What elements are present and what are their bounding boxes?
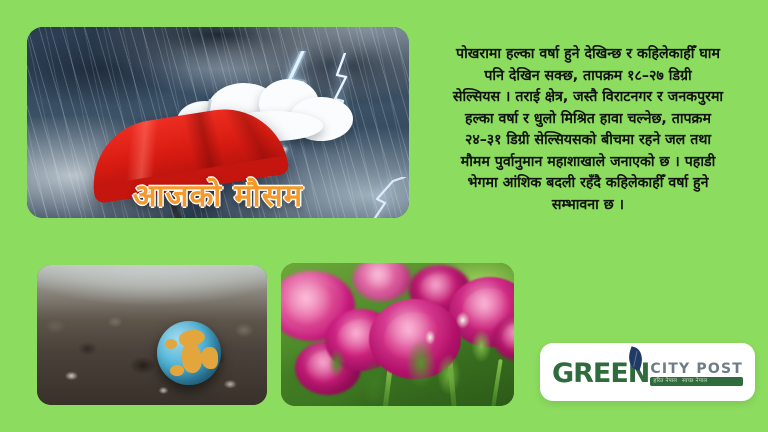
forecast-line: भेगमा आंशिक बदली रहँदै कहिलेकाहीँ वर्षा … (419, 173, 757, 195)
forecast-line: सेल्सियस । तराई क्षेत्र, जस्तै विराटनगर … (419, 87, 757, 109)
forecast-line: हल्का वर्षा र धुलो मिश्रित हावा चल्नेछ, … (419, 109, 757, 131)
forecast-line: पोखरामा हल्का वर्षा हुने देखिन्छ र कहिले… (419, 44, 757, 66)
logo-right-stack: CITY POST हरित नेपाल स्वच्छ नेपाल (650, 362, 743, 387)
forecast-line: मौमम पुर्वानुमान महाशाखाले जनाएको छ । पह… (419, 152, 757, 174)
poster-canvas: आजको मौसम पोखरामा हल्का वर्षा हुने देखिन… (0, 0, 768, 432)
forecast-line: पनि देखिन सक्छ, तापक्रम १८–२७ डिग्री (419, 66, 757, 88)
forecast-line: २४–३१ डिग्री सेल्सियसको बीचमा रहने जल तथ… (419, 130, 757, 152)
logo-card[interactable]: GREEN CITY POST हरित नेपाल स्वच्छ नेपाल (540, 343, 755, 401)
forecast-text-block: पोखरामा हल्का वर्षा हुने देखिन्छ र कहिले… (419, 44, 757, 216)
logo-tagline-bar: हरित नेपाल स्वच्छ नेपाल (650, 377, 743, 386)
photo-globe-on-landfill (37, 265, 267, 405)
forecast-line: सम्भावना छ । (419, 195, 757, 217)
green-city-post-logo: GREEN CITY POST हरित नेपाल स्वच्छ नेपाल (552, 357, 743, 387)
logo-tagline-right: स्वच्छ नेपाल (682, 378, 707, 385)
weather-hero-card: आजको मौसम (27, 27, 409, 218)
photo-peony-flowers (281, 263, 514, 406)
globe-icon (157, 321, 221, 385)
landfill-background (37, 265, 267, 405)
logo-wordmark-citypost: CITY POST (650, 362, 743, 376)
foliage-overlay (281, 263, 514, 406)
logo-tagline-left: हरित नेपाल (653, 378, 677, 385)
weather-title: आजको मौसम (27, 174, 409, 218)
